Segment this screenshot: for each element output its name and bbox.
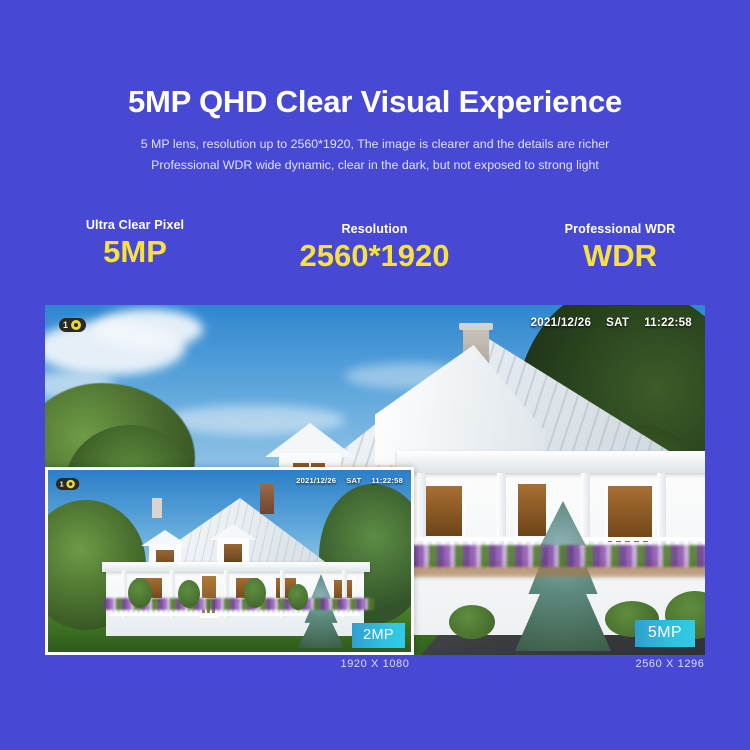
resolution-badge-5mp: 5MP: [635, 620, 695, 647]
channel-number: 1: [63, 319, 68, 331]
timestamp-overlay: 2021/12/26 SAT 11:22:58: [296, 476, 403, 485]
feature-stats-row: Ultra Clear Pixel 5MP Resolution 2560*19…: [45, 218, 705, 288]
cloud: [93, 309, 203, 349]
stat-label: Professional WDR: [530, 222, 710, 236]
timestamp-day: SAT: [346, 476, 361, 485]
timestamp-date: 2021/12/26: [531, 317, 592, 329]
timestamp-date: 2021/12/26: [296, 476, 336, 485]
subtitle-line-2: Professional WDR wide dynamic, clear in …: [0, 155, 750, 176]
pip-camera-view-2mp[interactable]: 1 2021/12/26 SAT 11:22:58 2MP: [45, 467, 414, 655]
timestamp-day: SAT: [606, 317, 629, 329]
chimney: [152, 498, 162, 518]
subtitle-line-1: 5 MP lens, resolution up to 2560*1920, T…: [0, 134, 750, 155]
channel-number: 1: [59, 479, 63, 489]
timestamp-time: 11:22:58: [644, 317, 692, 329]
chimney: [260, 484, 274, 514]
camera-channel-badge: 1: [56, 478, 79, 490]
pip-scene: 1 2021/12/26 SAT 11:22:58 2MP: [48, 470, 411, 652]
porch-roof: [102, 562, 370, 572]
stat-label: Ultra Clear Pixel: [45, 218, 225, 232]
timestamp-time: 11:22:58: [371, 476, 403, 485]
house-window: [421, 483, 465, 539]
shrub: [178, 580, 200, 608]
stat-value: WDR: [530, 237, 710, 275]
house-window: [515, 481, 549, 539]
pip-resolution-caption: 1920 X 1080: [305, 658, 445, 670]
camera-channel-badge: 1: [59, 318, 86, 332]
shrub: [288, 584, 308, 610]
product-feature-page: 5MP QHD Clear Visual Experience 5 MP len…: [0, 0, 750, 750]
chimney-cap: [459, 323, 493, 330]
shrub: [244, 578, 266, 608]
flower-bed: [385, 545, 705, 567]
dormer-window: [214, 524, 252, 566]
dormer-roof: [265, 423, 355, 457]
eye-icon: [71, 320, 81, 330]
timestamp-overlay: 2021/12/26 SAT 11:22:58: [531, 317, 692, 329]
house-window: [605, 483, 655, 545]
camera-preview-stage: 1 2021/12/26 SAT 11:22:58 5MP: [45, 305, 705, 655]
main-resolution-caption: 2560 X 1296: [600, 658, 740, 670]
stat-professional-wdr: Professional WDR WDR: [530, 222, 710, 275]
shrub: [449, 605, 495, 639]
stat-label: Resolution: [242, 222, 507, 236]
stat-resolution: Resolution 2560*1920: [242, 222, 507, 275]
shrub: [128, 578, 152, 608]
stat-value: 2560*1920: [242, 237, 507, 275]
stat-ultra-clear-pixel: Ultra Clear Pixel 5MP: [45, 218, 225, 271]
porch-roof: [397, 451, 705, 473]
stat-value: 5MP: [45, 233, 225, 271]
resolution-badge-2mp: 2MP: [352, 623, 405, 648]
eye-icon: [66, 480, 75, 489]
page-title: 5MP QHD Clear Visual Experience: [0, 84, 750, 120]
page-subtitle: 5 MP lens, resolution up to 2560*1920, T…: [0, 134, 750, 176]
